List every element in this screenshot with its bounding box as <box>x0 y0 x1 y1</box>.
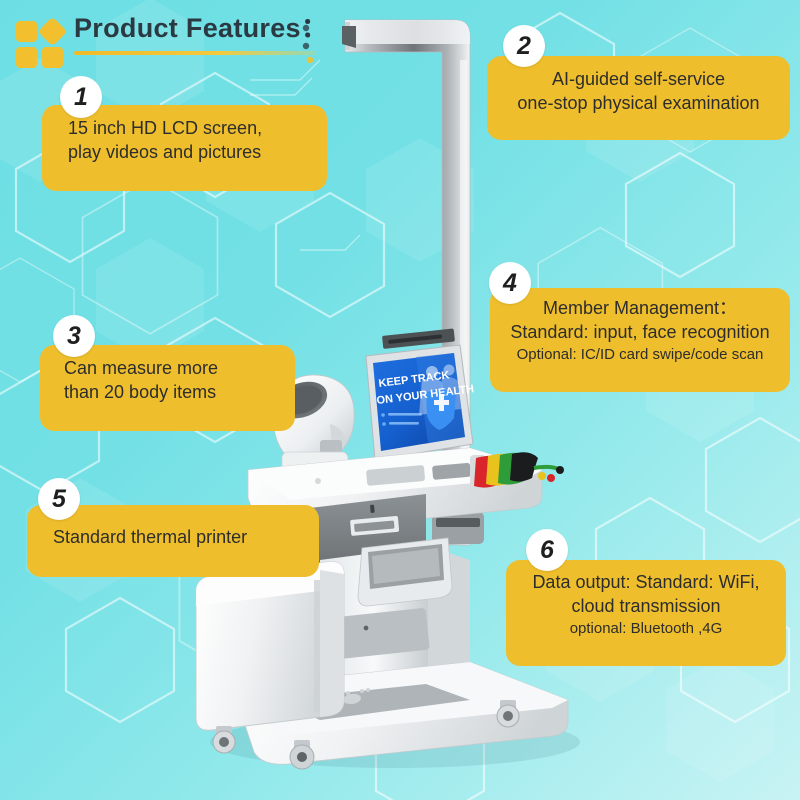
feature-2-line-1: AI-guided self-service <box>501 68 776 92</box>
caster-wheel <box>497 700 519 727</box>
logo-square-bottom-right <box>42 47 63 68</box>
logo-square-top-left <box>16 21 37 42</box>
poster-header: Product Features： <box>14 14 328 71</box>
logo-square-bottom-left <box>16 47 37 68</box>
ultrasonic-sensor-head <box>342 26 356 48</box>
caster-wheel <box>213 726 235 753</box>
feature-callout-1[interactable]: 15 inch HD LCD screen, play videos and p… <box>42 105 327 191</box>
logo-diamond-top-right <box>38 17 68 47</box>
feature-4-line-1: Member Management： <box>504 297 776 321</box>
feature-2-line-2: one-stop physical examination <box>501 92 776 116</box>
printer-door-seam <box>314 580 320 712</box>
feature-1-line-1: 15 inch HD LCD screen, <box>68 117 313 141</box>
feature-badge-3: 3 <box>53 315 95 357</box>
feature-6-optional-line: optional: Bluetooth ,4G <box>520 619 772 639</box>
feature-3-line-1: Can measure more <box>64 357 281 381</box>
feature-6-line-1: Data output: Standard: WiFi, <box>520 571 772 595</box>
product-features-poster: Product Features： <box>0 0 800 800</box>
feature-badge-4: 4 <box>489 262 531 304</box>
feature-callout-6[interactable]: Data output: Standard: WiFi, cloud trans… <box>506 560 786 666</box>
feature-6-line-2: cloud transmission <box>520 595 772 619</box>
feature-callout-3[interactable]: Can measure more than 20 body items <box>40 345 295 431</box>
four-squares-logo-icon <box>14 19 68 71</box>
feature-badge-1: 1 <box>60 76 102 118</box>
feature-callout-4[interactable]: Member Management： Standard: input, face… <box>490 288 790 392</box>
feature-callout-2[interactable]: AI-guided self-service one-stop physical… <box>487 56 790 140</box>
feature-4-line-2: Standard: input, face recognition <box>504 321 776 345</box>
feature-badge-6: 6 <box>526 529 568 571</box>
title-underline <box>74 51 316 55</box>
printer-side-cabinet <box>196 562 344 731</box>
feature-3-line-2: than 20 body items <box>64 381 281 405</box>
feature-4-optional-line: Optional: IC/ID card swipe/code scan <box>504 345 776 365</box>
page-title: Product Features： <box>74 14 328 44</box>
feature-1-line-2: play videos and pictures <box>68 141 313 165</box>
feature-badge-5: 5 <box>38 478 80 520</box>
feature-badge-2: 2 <box>503 25 545 67</box>
feature-5-line-1: Standard thermal printer <box>53 526 305 550</box>
